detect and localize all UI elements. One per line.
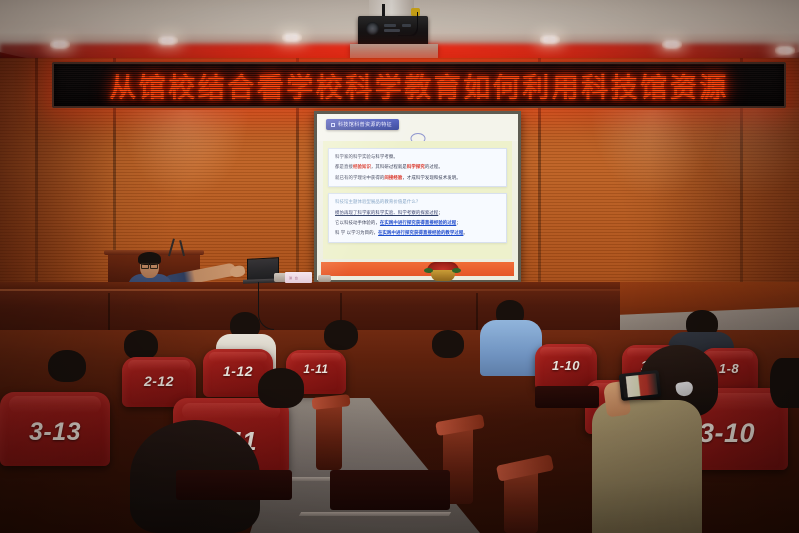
slide-text-segment: 科 学 以学习为目的，: [335, 230, 378, 235]
led-banner-text: 从馆校结合看学校科学教育如何利用科技馆资源: [109, 66, 729, 105]
power-cable: [258, 282, 274, 330]
seat-number-label: 3-13: [0, 418, 110, 447]
slide-text-segment: 科技馆主题体验型展品的教育价值是什么？: [335, 199, 420, 204]
slide-text-segment: ；: [438, 210, 443, 215]
slide-text-segment: 它以科技动手体验的，: [335, 220, 380, 225]
flower-leaf: [424, 268, 433, 273]
desk-name-card-text: 讲 台: [289, 276, 299, 280]
aisle-step: [299, 512, 451, 516]
slide-text-segment: 间接经验: [384, 175, 402, 180]
slide-text-line: 都是直接经验知识，其科研过程就是科学探究的过程。: [335, 164, 500, 170]
slide-text-segment: ，其科研过程就是: [371, 164, 407, 169]
smartphone-screen: [622, 373, 658, 397]
wall-light-sheen: [120, 110, 250, 200]
projector-cable: [404, 16, 418, 36]
slide-text-segment: 在实践中进行探究: [378, 230, 414, 235]
seat-base-shadow: [330, 470, 450, 510]
slide-footer-bar: [321, 262, 514, 276]
slide-text-line: 它以科技动手体验的，在实践中进行探究获得直接经验的过程；: [335, 220, 500, 226]
slide-text-segment: 。: [463, 230, 468, 235]
seat-base-shadow: [535, 386, 599, 408]
ceiling-downlight: [540, 35, 560, 44]
desk-equipment[interactable]: [318, 275, 331, 282]
slide-text-segment: 就已有的学理论中获得的: [335, 175, 384, 180]
attendee-head: [258, 368, 304, 408]
attendee-head: [324, 320, 358, 350]
projection-screen-surface: 科技馆科普资源的特征 科学家的科学实验与科学考察。都是直接经验知识，其科研过程就…: [317, 114, 518, 280]
slide-text-line: 科 学 以学习为目的，在实践中进行探究获得直接经验的教学过程。: [335, 230, 500, 236]
slide-text-line: 科技馆主题体验型展品的教育价值是什么？: [335, 199, 500, 205]
auditorium-seat[interactable]: 1-10: [535, 344, 597, 390]
slide-text-segment: 科学探究: [407, 164, 425, 169]
auditorium-seat[interactable]: 3-13: [0, 392, 110, 466]
slide-text-block: 科技馆主题体验型展品的教育价值是什么？模仿再现了科学家的科学实验、科学考察的探索…: [328, 193, 507, 243]
flower-pot: [431, 270, 455, 281]
flower-leaf: [452, 268, 461, 273]
slide-text-segment: ；: [456, 220, 461, 225]
slide-text-segment: 经验知识: [353, 164, 371, 169]
attendee-head: [432, 330, 464, 358]
slide-title-box: 科技馆科普资源的特征: [326, 119, 399, 130]
seat-armrest: [316, 400, 342, 470]
slide-bullet-icon: [331, 123, 335, 127]
slide-text-segment: 获得直接经验的过程: [416, 220, 456, 225]
seat-number-label: 2-12: [122, 373, 196, 389]
slide-text-segment: 获得直接经验的教学过程: [414, 230, 463, 235]
slide-text-segment: 的过程。: [425, 164, 443, 169]
attendee-photographer-torso: [592, 400, 702, 533]
seat-base-shadow: [176, 470, 292, 500]
slide-text-segment: 都是直接: [335, 164, 353, 169]
attendee-head: [124, 330, 158, 360]
ceiling-downlight: [282, 33, 302, 42]
led-banner: 从馆校结合看学校科学教育如何利用科技馆资源: [52, 62, 786, 108]
smartphone[interactable]: [619, 370, 662, 401]
glasses-icon: [141, 263, 158, 267]
projector-vent: [384, 24, 396, 27]
slide-text-line: 模仿再现了科学家的科学实验、科学考察的探索过程；: [335, 210, 500, 216]
slide-text-segment: 科学家的科学实验与科学考察。: [335, 154, 398, 159]
seat-number-label: 1-10: [535, 358, 597, 373]
slide-text-segment: ，才成科学发现和技术发明。: [402, 175, 460, 180]
slide-text-segment: 在实践中进行探究: [380, 220, 416, 225]
slide-text-line: 科学家的科学实验与科学考察。: [335, 154, 500, 160]
slide-text-line: 就已有的学理论中获得的间接经验，才成科学发现和技术发明。: [335, 175, 500, 181]
slide-header: 科技馆科普资源的特征: [317, 114, 518, 141]
slide-text-block: 科学家的科学实验与科学考察。都是直接经验知识，其科研过程就是科学探究的过程。就已…: [328, 148, 507, 187]
attendee-blue-shirt-torso: [480, 320, 542, 376]
projector-lens-icon: [366, 22, 379, 35]
attendee-head: [770, 358, 799, 408]
slide-text-segment: 模仿再现了科学家的科学实验、科学考察的探索过程: [335, 210, 438, 215]
attendee-head: [48, 350, 86, 382]
lecture-hall-photo: 从馆校结合看学校科学教育如何利用科技馆资源 科技馆科普资源的特征 科学家的科学实…: [0, 0, 799, 533]
projection-screen: 科技馆科普资源的特征 科学家的科学实验与科学考察。都是直接经验知识，其科研过程就…: [314, 111, 521, 283]
presentation-slide: 科技馆科普资源的特征 科学家的科学实验与科学考察。都是直接经验知识，其科研过程就…: [317, 114, 518, 280]
desk-name-card: 讲 台: [285, 272, 312, 283]
slide-title: 科技馆科普资源的特征: [338, 121, 392, 128]
slide-body: 科学家的科学实验与科学考察。都是直接经验知识，其科研过程就是科学探究的过程。就已…: [323, 141, 512, 259]
